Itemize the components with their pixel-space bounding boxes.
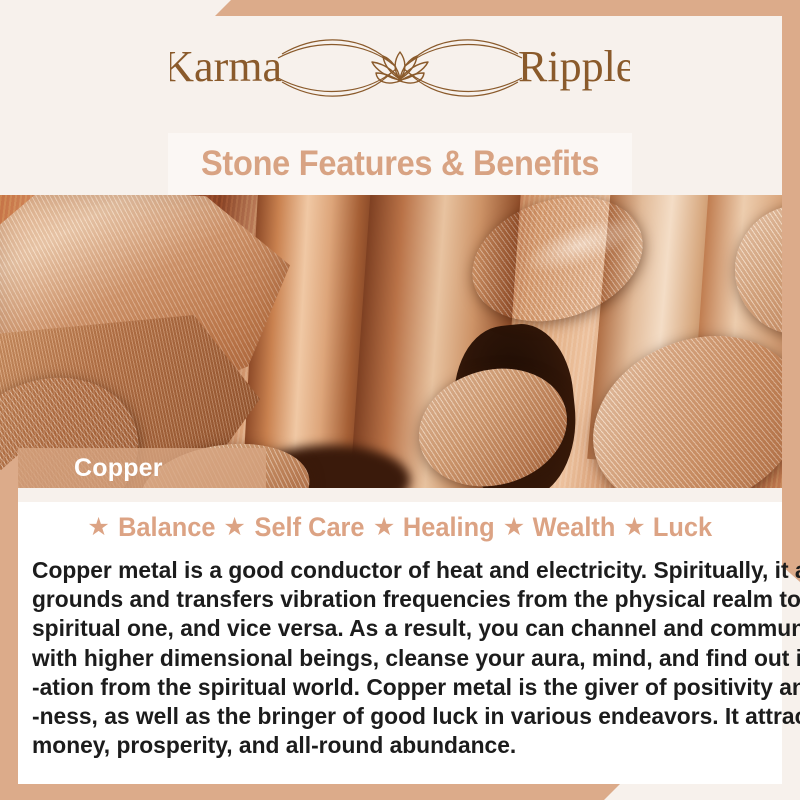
benefit-label: Balance [118,512,215,543]
corner-band-left-strip [0,455,18,800]
hero-photo-copper-rods [0,195,800,488]
star-icon: ★ [223,515,245,540]
benefit-label: Self Care [254,512,364,543]
star-icon: ★ [623,515,645,540]
stone-name-bar: Copper [18,448,266,488]
star-icon: ★ [503,515,525,540]
star-icon: ★ [373,515,395,540]
benefits-row: ★ Balance ★ Self Care ★ Healing ★ Wealth… [18,510,782,544]
description-line: -ation from the spiritual world. Copper … [32,673,750,702]
description-line: -ness, as well as the bringer of good lu… [32,702,750,731]
description-line: money, prosperity, and all-round abundan… [32,731,750,760]
stone-name-label: Copper [74,454,163,483]
corner-band-bottom-left [0,784,620,800]
corner-band-right-strip [782,0,800,582]
brand-name-left: Karma [170,42,282,91]
brand-logo: Karma Ripple [170,24,630,110]
benefit-item-wealth: ★ Wealth [500,512,620,543]
page-title: Stone Features & Benefits [201,144,599,184]
title-banner: Stone Features & Benefits [168,133,632,195]
benefit-item-balance: ★ Balance [84,512,220,543]
description-line: Copper metal is a good conductor of heat… [32,556,750,585]
description-line: spiritual one, and vice versa. As a resu… [32,614,750,643]
description-text: Copper metal is a good conductor of heat… [32,556,772,760]
benefit-label: Wealth [533,512,616,543]
corner-band-top-right [215,0,800,16]
star-icon: ★ [87,515,109,540]
benefit-label: Luck [653,512,712,543]
brand-name-right: Ripple [518,42,630,91]
benefit-item-self-care: ★ Self Care [220,512,369,543]
benefit-label: Healing [403,512,495,543]
description-line: grounds and transfers vibration frequenc… [32,585,750,614]
brand-header: Karma Ripple [0,0,800,133]
benefit-item-luck: ★ Luck [620,512,715,543]
benefit-item-healing: ★ Healing [370,512,500,543]
description-line: with higher dimensional beings, cleanse … [32,644,750,673]
